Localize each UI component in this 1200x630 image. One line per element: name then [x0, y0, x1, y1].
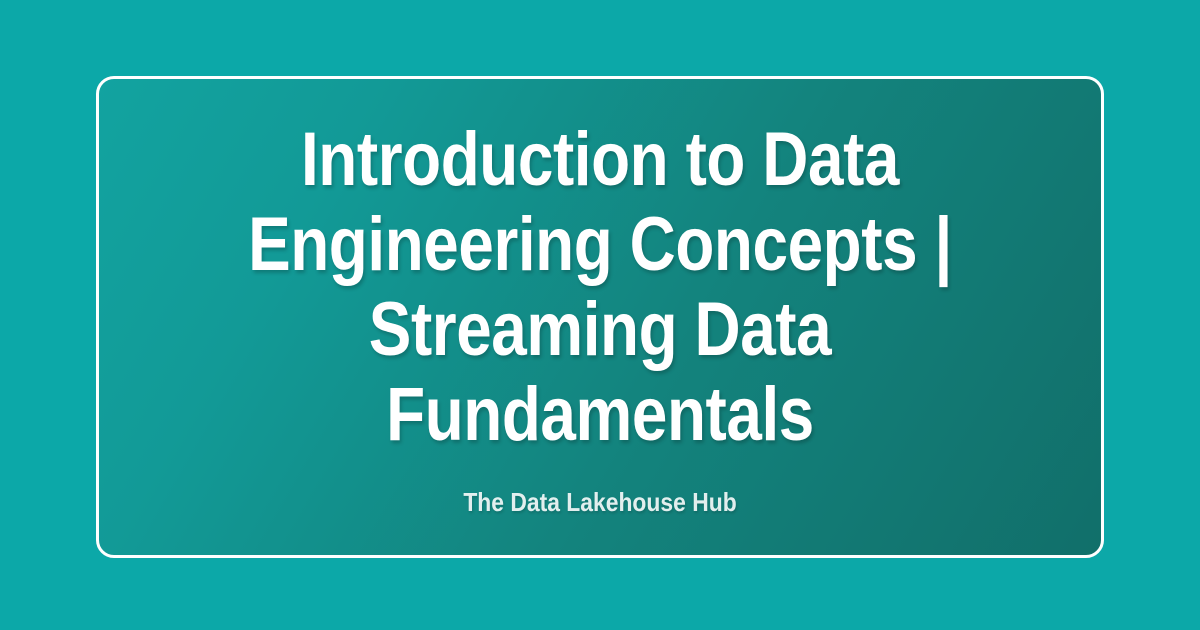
card-text-stack: Introduction to Data Engineering Concept… — [99, 117, 1101, 517]
social-share-card: Introduction to Data Engineering Concept… — [0, 0, 1200, 630]
card-panel: Introduction to Data Engineering Concept… — [96, 76, 1104, 558]
page-title: Introduction to Data Engineering Concept… — [201, 117, 999, 457]
site-name-subtitle: The Data Lakehouse Hub — [182, 487, 1018, 517]
